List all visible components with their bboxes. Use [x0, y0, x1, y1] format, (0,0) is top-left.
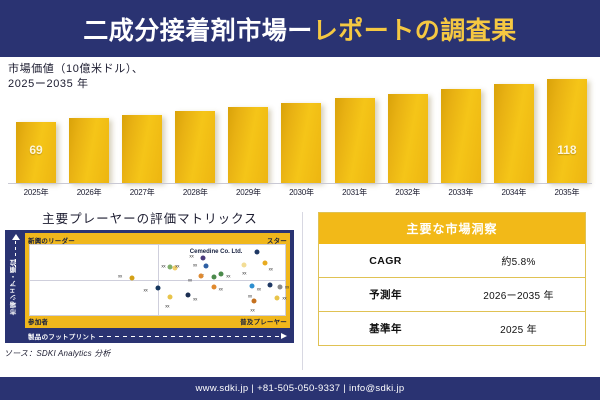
matrix-named-player-label: Cemedine Co. Ltd. [190, 249, 243, 255]
x-axis-tick-label: 2032年 [386, 187, 430, 201]
x-axis-tick-label: 2028年 [173, 187, 217, 201]
chart-bar [441, 89, 481, 183]
chart-bar [494, 84, 534, 183]
player-evaluation-matrix: 主要プレーヤーの評価マトリックス 市場シェア・順位 新興のリーダー スター 参加… [0, 205, 300, 375]
x-axis-dashed-line [99, 336, 279, 337]
insights-row: 予測年2026ー2035 年 [319, 277, 585, 311]
matrix-point-label: xx [193, 263, 197, 268]
chart-baseline [8, 183, 592, 184]
chart-bar: 69 [16, 122, 56, 183]
matrix-data-point [254, 250, 259, 255]
up-arrow-icon [12, 234, 20, 240]
matrix-point-label: xx [189, 253, 193, 258]
chart-bars: 69118 [14, 68, 589, 183]
page-title-primary: 二成分接着剤市場ー [83, 17, 313, 45]
chart-x-axis-labels: 2025年2026年2027年2028年2029年2030年2031年2032年… [14, 187, 589, 201]
key-market-insights: 主要な市場洞察 CAGR約5.8%予測年2026ー2035 年基準年2025 年 [306, 205, 600, 375]
chart-bar: 118 [547, 79, 587, 183]
matrix-quadrant-panel: 新興のリーダー スター 参加者 普及プレーヤー Cemedine Co. Ltd… [25, 233, 290, 328]
matrix-point-label: xx [285, 285, 289, 290]
x-axis-tick-label: 2026年 [67, 187, 111, 201]
x-axis-tick-label: 2027年 [120, 187, 164, 201]
insights-row-key: 予測年 [319, 287, 452, 302]
matrix-data-point [252, 299, 257, 304]
insights-row-value: 2026ー2035 年 [452, 287, 585, 302]
insights-row: 基準年2025 年 [319, 311, 585, 345]
bar-value-label: 69 [16, 143, 56, 157]
bar-column [279, 68, 323, 183]
matrix-title: 主要プレーヤーの評価マトリックス [0, 205, 300, 227]
bar-column: 118 [545, 68, 589, 183]
matrix-scatter-plot: Cemedine Co. Ltd. xxxxxxxxxxxxxxxxxxxxxx… [29, 244, 286, 316]
bar-column [386, 68, 430, 183]
chart-bar [388, 94, 428, 183]
matrix-data-point [130, 275, 135, 280]
x-axis-tick-label: 2031年 [333, 187, 377, 201]
matrix-point-label: xx [242, 271, 246, 276]
matrix-data-point [155, 286, 160, 291]
insights-row-value: 2025 年 [452, 321, 585, 336]
page-title-accent: レポートの調査果 [313, 17, 517, 45]
matrix-data-point [168, 264, 173, 269]
market-value-bar-chart: 市場価値（10億米ドル）、 2025ー2035 年 69118 2025年202… [0, 57, 600, 205]
matrix-data-point [186, 293, 191, 298]
chart-bar [69, 118, 109, 183]
x-axis-tick-label: 2029年 [226, 187, 270, 201]
matrix-x-axis-label: 製品のフットプリント [28, 331, 96, 341]
insights-row-value: 約5.8% [452, 253, 585, 268]
matrix-point-label: xx [282, 296, 286, 301]
matrix-horizontal-divider [30, 280, 285, 281]
matrix-data-point [242, 263, 247, 268]
bar-column: 69 [14, 68, 58, 183]
bar-column [226, 68, 270, 183]
matrix-data-point [201, 255, 206, 260]
matrix-data-point [267, 282, 272, 287]
page-footer: www.sdki.jp | +81-505-050-9337 | info@sd… [0, 377, 600, 400]
page-title: 二成分接着剤市場ーレポートの調査果 [83, 11, 517, 47]
matrix-x-axis: 製品のフットプリント [25, 330, 290, 342]
matrix-y-axis-label: 市場シェア・順位 [10, 259, 20, 315]
bar-column [439, 68, 483, 183]
bar-column [333, 68, 377, 183]
x-axis-tick-label: 2034年 [492, 187, 536, 201]
matrix-point-label: xx [257, 286, 261, 291]
quadrant-label-pervasive-player: 普及プレーヤー [240, 316, 287, 326]
matrix-point-label: xx [226, 274, 230, 279]
chart-bar [175, 111, 215, 183]
matrix-frame: 市場シェア・順位 新興のリーダー スター 参加者 普及プレーヤー Cemedin… [5, 230, 294, 343]
bar-column [67, 68, 111, 183]
chart-bar [281, 103, 321, 184]
matrix-point-label: xx [175, 263, 179, 268]
bar-column [120, 68, 164, 183]
matrix-data-point [211, 275, 216, 280]
matrix-data-point [275, 296, 280, 301]
matrix-data-point [198, 273, 203, 278]
chart-bar [228, 107, 268, 183]
matrix-point-label: xx [165, 303, 169, 308]
matrix-point-label: xx [269, 266, 273, 271]
matrix-data-point [249, 284, 254, 289]
bar-value-label: 118 [547, 143, 587, 157]
chart-bar [335, 98, 375, 183]
matrix-point-label: xx [219, 287, 223, 292]
insights-row-key: 基準年 [319, 321, 452, 336]
x-axis-tick-label: 2030年 [279, 187, 323, 201]
x-axis-tick-label: 2033年 [439, 187, 483, 201]
x-axis-tick-label: 2035年 [545, 187, 589, 201]
x-axis-tick-label: 2025年 [14, 187, 58, 201]
chart-source-note: ソース：SDKI Analytics 分析 [4, 348, 111, 359]
bar-column [173, 68, 217, 183]
matrix-point-label: xx [188, 277, 192, 282]
matrix-data-point [219, 272, 224, 277]
right-arrow-icon [281, 333, 287, 339]
insights-row-key: CAGR [319, 255, 452, 267]
page-header: 二成分接着剤市場ーレポートの調査果 [0, 0, 600, 57]
matrix-data-point [277, 285, 282, 290]
matrix-data-point [211, 285, 216, 290]
insights-row: CAGR約5.8% [319, 244, 585, 277]
matrix-data-point [168, 294, 173, 299]
footer-contact-text: www.sdki.jp | +81-505-050-9337 | info@sd… [196, 383, 405, 394]
insights-heading: 主要な市場洞察 [319, 213, 585, 244]
matrix-point-label: xx [144, 288, 148, 293]
bar-column [492, 68, 536, 183]
matrix-data-point [262, 260, 267, 265]
matrix-y-axis: 市場シェア・順位 [5, 230, 25, 343]
matrix-data-point [203, 264, 208, 269]
insights-card: 主要な市場洞察 CAGR約5.8%予測年2026ー2035 年基準年2025 年 [318, 212, 586, 346]
section-divider [302, 212, 303, 370]
matrix-point-label: xx [118, 273, 122, 278]
matrix-point-label: xx [248, 294, 252, 299]
insights-table: CAGR約5.8%予測年2026ー2035 年基準年2025 年 [319, 244, 585, 345]
matrix-point-label: xx [193, 297, 197, 302]
matrix-point-label: xx [250, 308, 254, 313]
quadrant-label-participant: 参加者 [28, 316, 48, 326]
chart-bar [122, 115, 162, 183]
matrix-point-label: xx [161, 264, 165, 269]
